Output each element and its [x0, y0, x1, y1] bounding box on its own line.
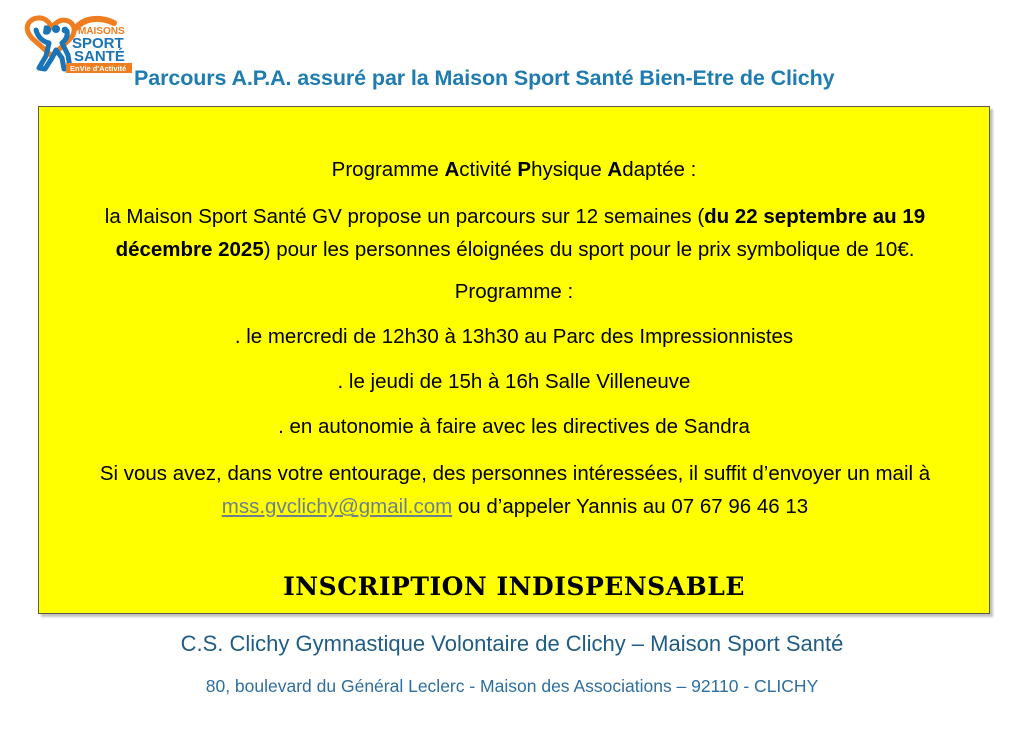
- programme-apa-t2: ctivité: [459, 158, 517, 181]
- logo-text-sante: SANTÉ: [74, 48, 125, 65]
- contact-text-2: ou d’appeler Yannis au 07 67 96 46 13: [452, 495, 808, 518]
- offer-text-2: ) pour les personnes éloignées du sport …: [264, 238, 915, 261]
- header: MAISONS SPORT SANTÉ EnVie d'Activité Par…: [0, 0, 1024, 106]
- footer-address: 80, boulevard du Général Leclerc - Maiso…: [0, 675, 1024, 698]
- contact-paragraph: Si vous avez, dans votre entourage, des …: [55, 457, 975, 523]
- page-title: Parcours A.P.A. assuré par la Maison Spo…: [134, 66, 835, 91]
- programme-apa-b2: P: [517, 158, 531, 181]
- footer: C.S. Clichy Gymnastique Volontaire de Cl…: [0, 630, 1024, 697]
- offer-text-1: la Maison Sport Santé GV propose un parc…: [105, 205, 704, 228]
- programme-apa-t4: daptée :: [622, 158, 696, 181]
- footer-organisation: C.S. Clichy Gymnastique Volontaire de Cl…: [0, 630, 1024, 659]
- programme-label: Programme :: [39, 279, 989, 305]
- session-item-autonomie: . en autonomie à faire avec les directiv…: [39, 414, 989, 440]
- session-item-jeudi: . le jeudi de 15h à 16h Salle Villeneuve: [39, 369, 989, 395]
- programme-apa-b1: A: [444, 158, 459, 181]
- logo-tagline: EnVie d'Activité: [70, 64, 126, 73]
- programme-apa-heading: Programme Activité Physique Adaptée :: [39, 157, 989, 183]
- programme-apa-t1: Programme: [332, 158, 445, 181]
- email-link[interactable]: mss.gvclichy@gmail.com: [222, 495, 452, 518]
- programme-apa-t3: hysique: [531, 158, 607, 181]
- programme-apa-b3: A: [607, 158, 622, 181]
- session-item-mercredi: . le mercredi de 12h30 à 13h30 au Parc d…: [39, 324, 989, 350]
- inscription-notice: INSCRIPTION INDISPENSABLE: [39, 572, 989, 601]
- maisons-sport-sante-logo: MAISONS SPORT SANTÉ EnVie d'Activité: [22, 12, 134, 74]
- offer-paragraph: la Maison Sport Santé GV propose un parc…: [57, 200, 973, 266]
- logo-icon: MAISONS SPORT SANTÉ EnVie d'Activité: [22, 12, 134, 74]
- contact-text-1: Si vous avez, dans votre entourage, des …: [100, 462, 930, 485]
- announcement-panel: Programme Activité Physique Adaptée : la…: [38, 106, 990, 614]
